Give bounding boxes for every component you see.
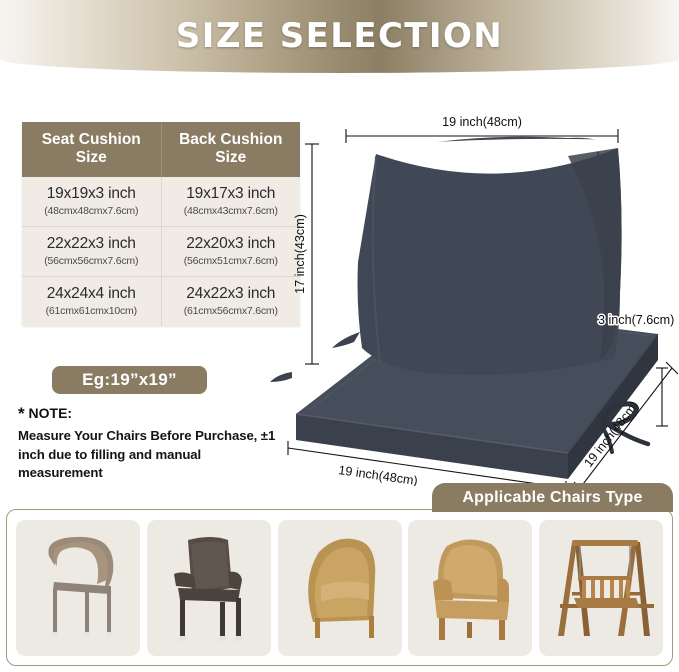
note-line-2: inch due to filling and manual measureme… xyxy=(18,446,286,483)
cell-seat-size-3: 24x24x4 inch (61cmx61cmx10cm) xyxy=(22,276,161,326)
note-text: Measure Your Chairs Before Purchase, ±1 … xyxy=(18,427,286,483)
chair-thumbnail-dark-wicker-dining-chair[interactable] xyxy=(147,520,271,656)
seat-inch-2: 22x22x3 inch xyxy=(24,235,159,253)
chair-leg-front-right xyxy=(220,602,225,638)
note-heading: * NOTE: xyxy=(18,404,286,424)
page-header-banner: SIZE SELECTION xyxy=(0,0,679,73)
note-block: * NOTE: Measure Your Chairs Before Purch… xyxy=(18,404,286,483)
chair-leg-front-left xyxy=(53,590,57,634)
chair-foot-2 xyxy=(219,636,226,641)
back-cushion-tie-left xyxy=(332,332,360,348)
cell-seat-size-2: 22x22x3 inch (56cmx56cmx7.6cm) xyxy=(22,226,161,276)
example-size-badge: Eg:19”x19” xyxy=(52,366,207,394)
column-header-seat-cushion-size: Seat Cushion Size xyxy=(22,122,161,177)
seat-header-line2: Size xyxy=(26,149,157,167)
chair-leg-front-left xyxy=(180,600,185,638)
chair-thumbnail-rattan-barrel-chair[interactable] xyxy=(278,520,402,656)
dimension-label-back-width: 19 inch(48cm) xyxy=(442,115,522,129)
chair-seat xyxy=(435,600,509,620)
seat-cm-2: (56cmx56cmx7.6cm) xyxy=(24,255,159,267)
seat-inch-3: 24x24x4 inch xyxy=(24,285,159,303)
chair-armrest-right xyxy=(228,571,242,589)
chair-leg-front-right xyxy=(85,592,89,634)
chair-foot-1 xyxy=(52,632,58,637)
chair-leg-right xyxy=(369,616,374,638)
chair-armrest-left xyxy=(433,579,453,600)
swing-armrest-left xyxy=(572,592,582,596)
swing-frame-right-back xyxy=(635,542,650,636)
cushion-dimension-diagram: 19 inch(48cm) 17 inch(43cm) 3 inch(7.6cm… xyxy=(268,96,679,486)
swing-back-slats xyxy=(582,580,630,598)
chair-seat xyxy=(53,582,109,594)
swing-seat xyxy=(574,598,640,608)
cell-seat-size-1: 19x19x3 inch (48cmx48cmx7.6cm) xyxy=(22,177,161,227)
note-heading-label: NOTE: xyxy=(29,405,73,421)
seat-cm-1: (48cmx48cmx7.6cm) xyxy=(24,205,159,217)
swing-armrest-right xyxy=(630,592,640,596)
chair-leg-back-right xyxy=(236,598,241,638)
size-chart-table: Seat Cushion Size Back Cushion Size 19x1… xyxy=(22,122,300,326)
chair-back-weave xyxy=(53,541,108,583)
chair-foot-3 xyxy=(235,636,242,641)
chair-seat xyxy=(178,588,240,602)
chair-thumbnail-wooden-porch-swing[interactable] xyxy=(539,520,663,656)
dimension-label-seat-thickness: 3 inch(7.6cm) xyxy=(598,313,674,327)
swing-back-top-rail xyxy=(578,576,632,580)
table-header-row: Seat Cushion Size Back Cushion Size xyxy=(22,122,300,177)
dimension-back-height xyxy=(305,144,319,364)
dimension-label-back-height: 17 inch(43cm) xyxy=(293,214,307,294)
chair-leg-left xyxy=(315,618,320,638)
applicable-chairs-panel xyxy=(6,509,673,666)
seat-header-line1: Seat Cushion xyxy=(26,131,157,149)
chair-foot-1 xyxy=(179,636,186,641)
applicable-chairs-tab: Applicable Chairs Type xyxy=(432,483,673,512)
seat-cushion-tie-left xyxy=(270,372,292,382)
dimension-seat-thickness xyxy=(656,368,668,426)
chair-leg-front-left xyxy=(439,618,445,640)
table-row: 24x24x4 inch (61cmx61cmx10cm) 24x22x3 in… xyxy=(22,276,300,326)
seat-inch-1: 19x19x3 inch xyxy=(24,185,159,203)
dimension-label-seat-front: 19 inch(48cm) xyxy=(338,463,419,486)
swing-frame-left-front xyxy=(558,542,577,636)
chair-foot-2 xyxy=(84,632,90,637)
chair-back-weave xyxy=(191,541,229,590)
swing-top-beam xyxy=(572,540,638,546)
page-title: SIZE SELECTION xyxy=(0,16,679,56)
seat-cm-3: (61cmx61cmx10cm) xyxy=(24,305,159,317)
chair-leg-back-right xyxy=(107,586,111,634)
table-row: 22x22x3 inch (56cmx56cmx7.6cm) 22x20x3 i… xyxy=(22,226,300,276)
asterisk-icon: * xyxy=(18,404,25,423)
chair-foot-3 xyxy=(106,632,112,637)
chair-thumbnail-wicker-stacking-armchair[interactable] xyxy=(16,520,140,656)
table-row: 19x19x3 inch (48cmx48cmx7.6cm) 19x17x3 i… xyxy=(22,177,300,227)
chair-thumbnail-tan-wicker-armchair[interactable] xyxy=(408,520,532,656)
chair-leg-back xyxy=(467,622,472,638)
note-line-1: Measure Your Chairs Before Purchase, ±1 xyxy=(18,427,286,446)
chair-leg-front-right xyxy=(499,620,505,640)
chair-armrest-right xyxy=(497,578,509,602)
